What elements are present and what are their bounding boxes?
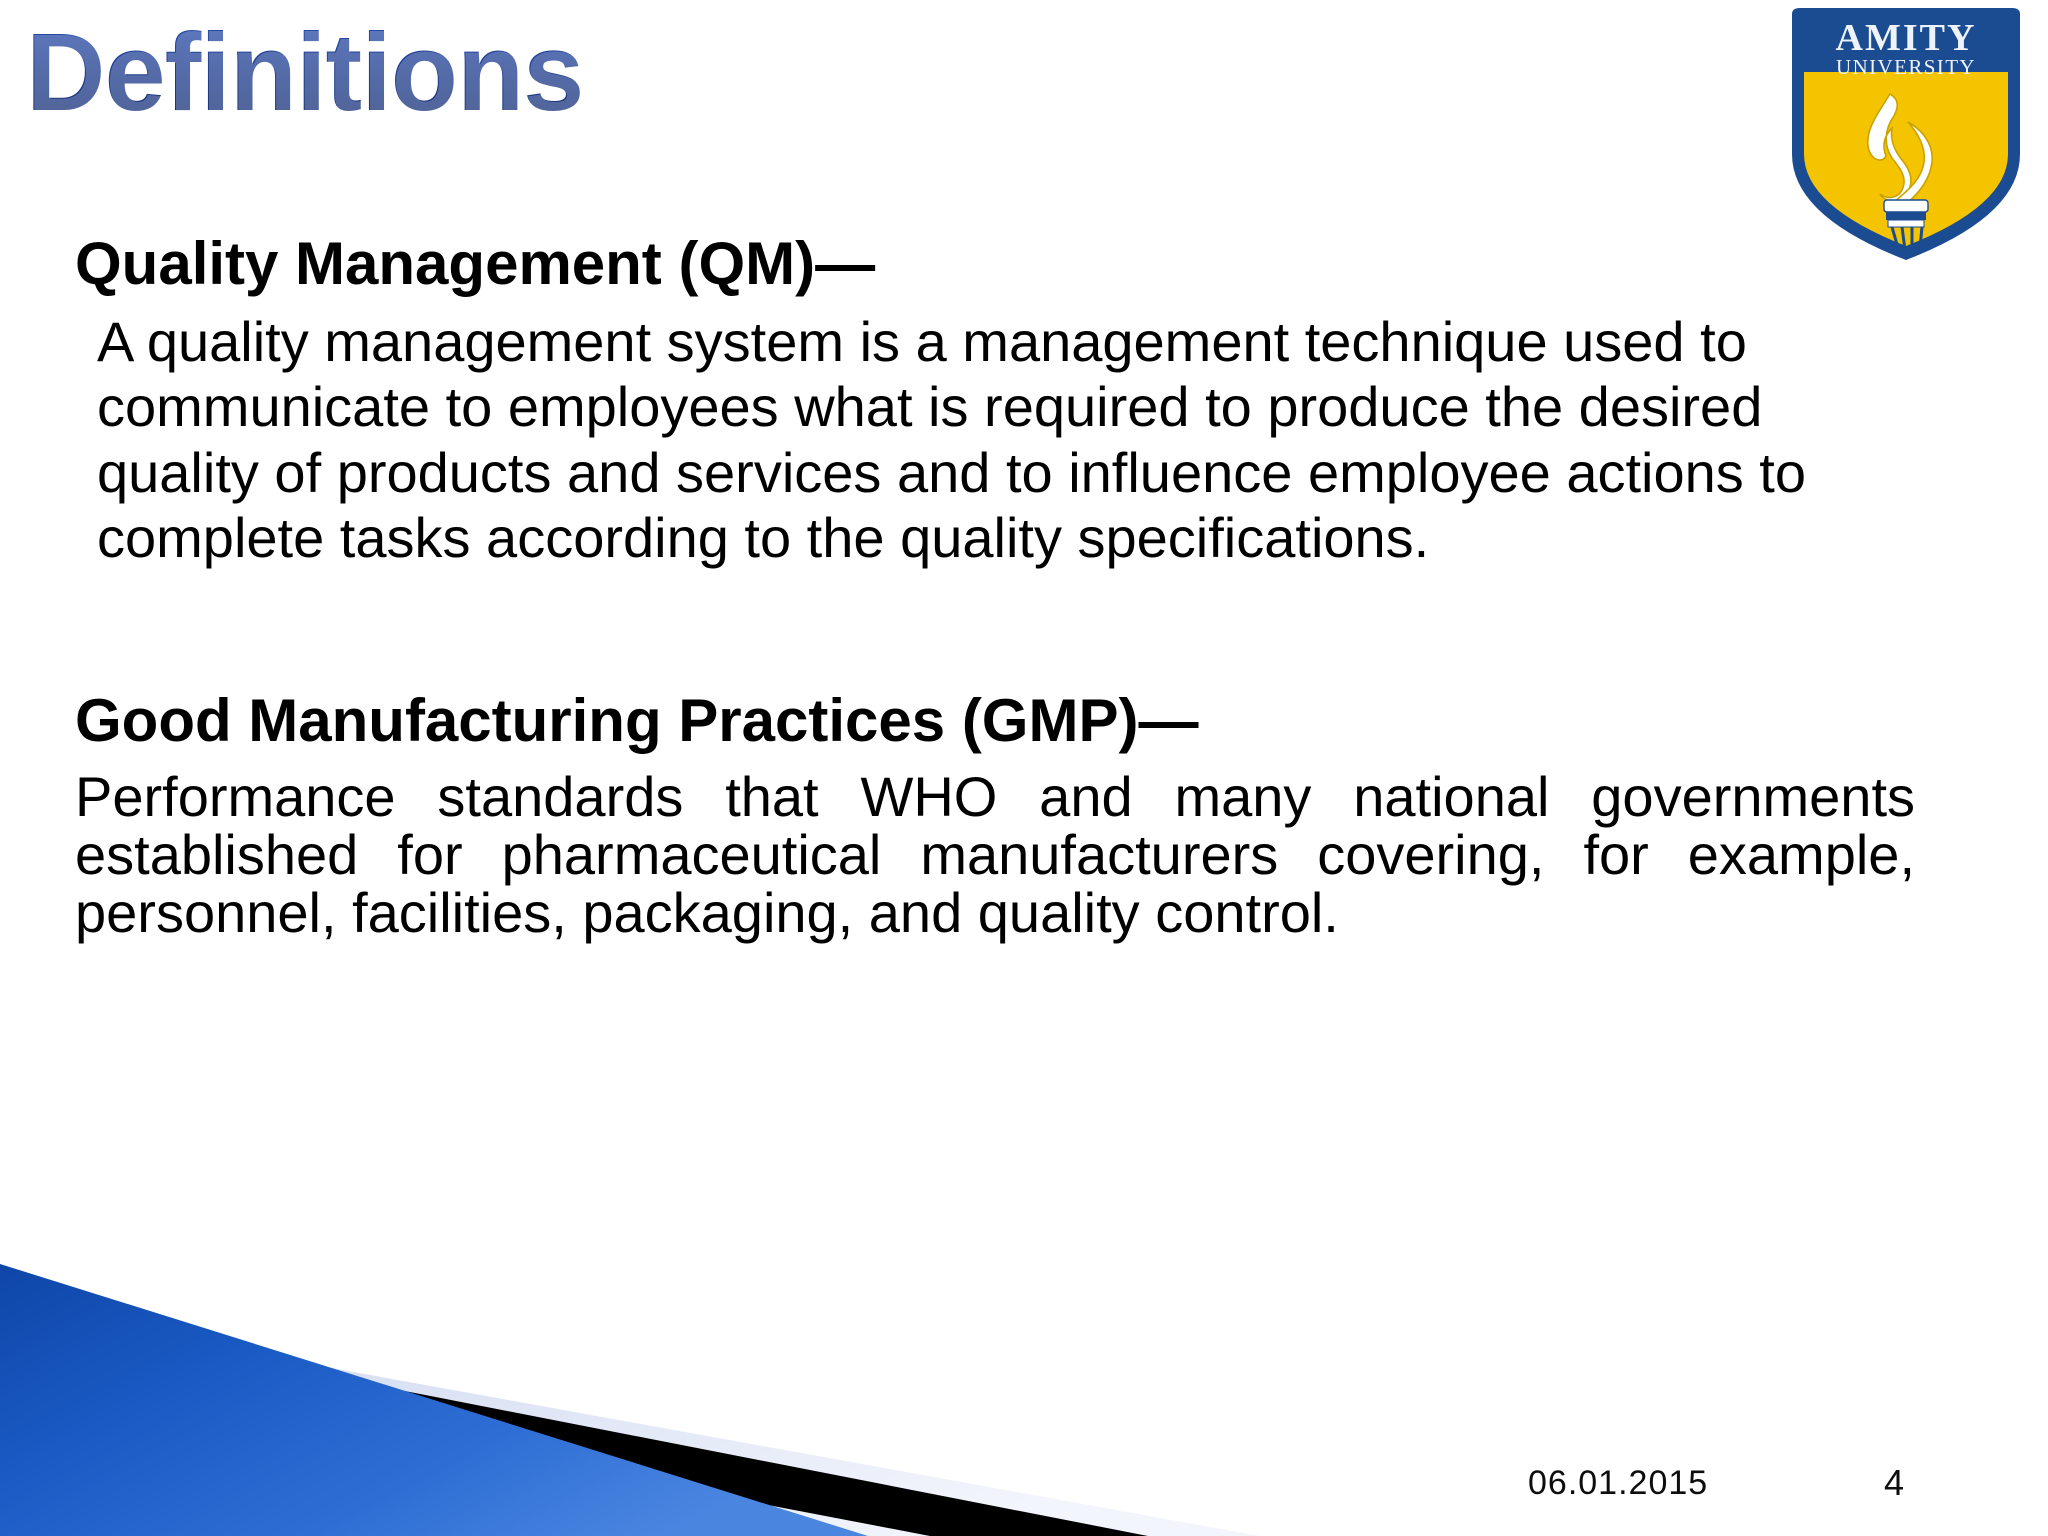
- decorative-corner-bands: [0, 1216, 2048, 1536]
- definition-block-qm: Quality Management (QM)— A quality manag…: [75, 232, 2048, 571]
- logo-text-university: UNIVERSITY: [1836, 55, 1976, 79]
- definition-body-qm: A quality management system is a managem…: [97, 309, 1857, 571]
- footer-date: 06.01.2015: [1528, 1464, 1708, 1503]
- definition-heading-qm: Quality Management (QM)—: [75, 232, 2048, 297]
- definition-block-gmp: Good Manufacturing Practices (GMP)— Perf…: [75, 689, 2048, 943]
- amity-university-logo: AMITY UNIVERSITY: [1780, 4, 2032, 266]
- definition-body-gmp: Performance standards that WHO and many …: [75, 768, 1915, 943]
- decor-band-light: [0, 1308, 1260, 1536]
- footer-page-number: 4: [1884, 1462, 1904, 1504]
- decor-band-black: [0, 1312, 1148, 1536]
- page-title: Definitions: [26, 14, 583, 133]
- logo-text-amity: AMITY: [1836, 17, 1977, 59]
- decor-band-blue: [0, 1264, 868, 1536]
- definition-heading-gmp: Good Manufacturing Practices (GMP)—: [75, 689, 2048, 754]
- slide-canvas: Definitions AMITY UNIVERSITY: [0, 0, 2048, 1536]
- slide-content: Quality Management (QM)— A quality manag…: [0, 232, 2048, 942]
